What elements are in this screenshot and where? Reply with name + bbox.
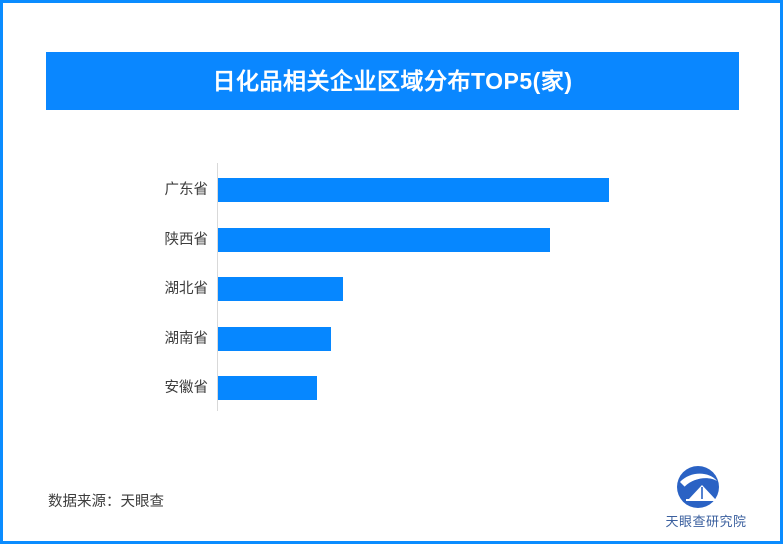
bar-rect [218, 327, 331, 351]
brand-name-label: 天眼查研究院 [658, 511, 754, 530]
bar-chart: 广东省陕西省湖北省湖南省安徽省 [3, 155, 783, 411]
bar-rect [218, 376, 317, 400]
bar-category-label: 广东省 [63, 178, 208, 202]
bar-category-label: 陕西省 [63, 228, 208, 252]
tianyancha-research-logo-icon [676, 465, 720, 509]
page-title: 日化品相关企业区域分布TOP5(家) [213, 70, 573, 93]
bar-rect [218, 178, 609, 202]
bar-rect [218, 228, 550, 252]
brand-block: 天眼查研究院 [658, 465, 754, 533]
bar-category-label: 安徽省 [63, 376, 208, 400]
bar-category-label: 湖北省 [63, 277, 208, 301]
bar-row: 湖北省 [3, 277, 783, 301]
bar-row: 安徽省 [3, 376, 783, 400]
bar-row: 广东省 [3, 178, 783, 202]
infographic-canvas: 日化品相关企业区域分布TOP5(家) 广东省陕西省湖北省湖南省安徽省 数据来源：… [0, 0, 783, 544]
title-banner: 日化品相关企业区域分布TOP5(家) [46, 52, 739, 110]
bar-category-label: 湖南省 [63, 327, 208, 351]
data-source-note: 数据来源：天眼查 [48, 490, 164, 511]
bar-row: 湖南省 [3, 327, 783, 351]
bar-row: 陕西省 [3, 228, 783, 252]
bar-series: 广东省陕西省湖北省湖南省安徽省 [3, 155, 783, 411]
bar-rect [218, 277, 343, 301]
